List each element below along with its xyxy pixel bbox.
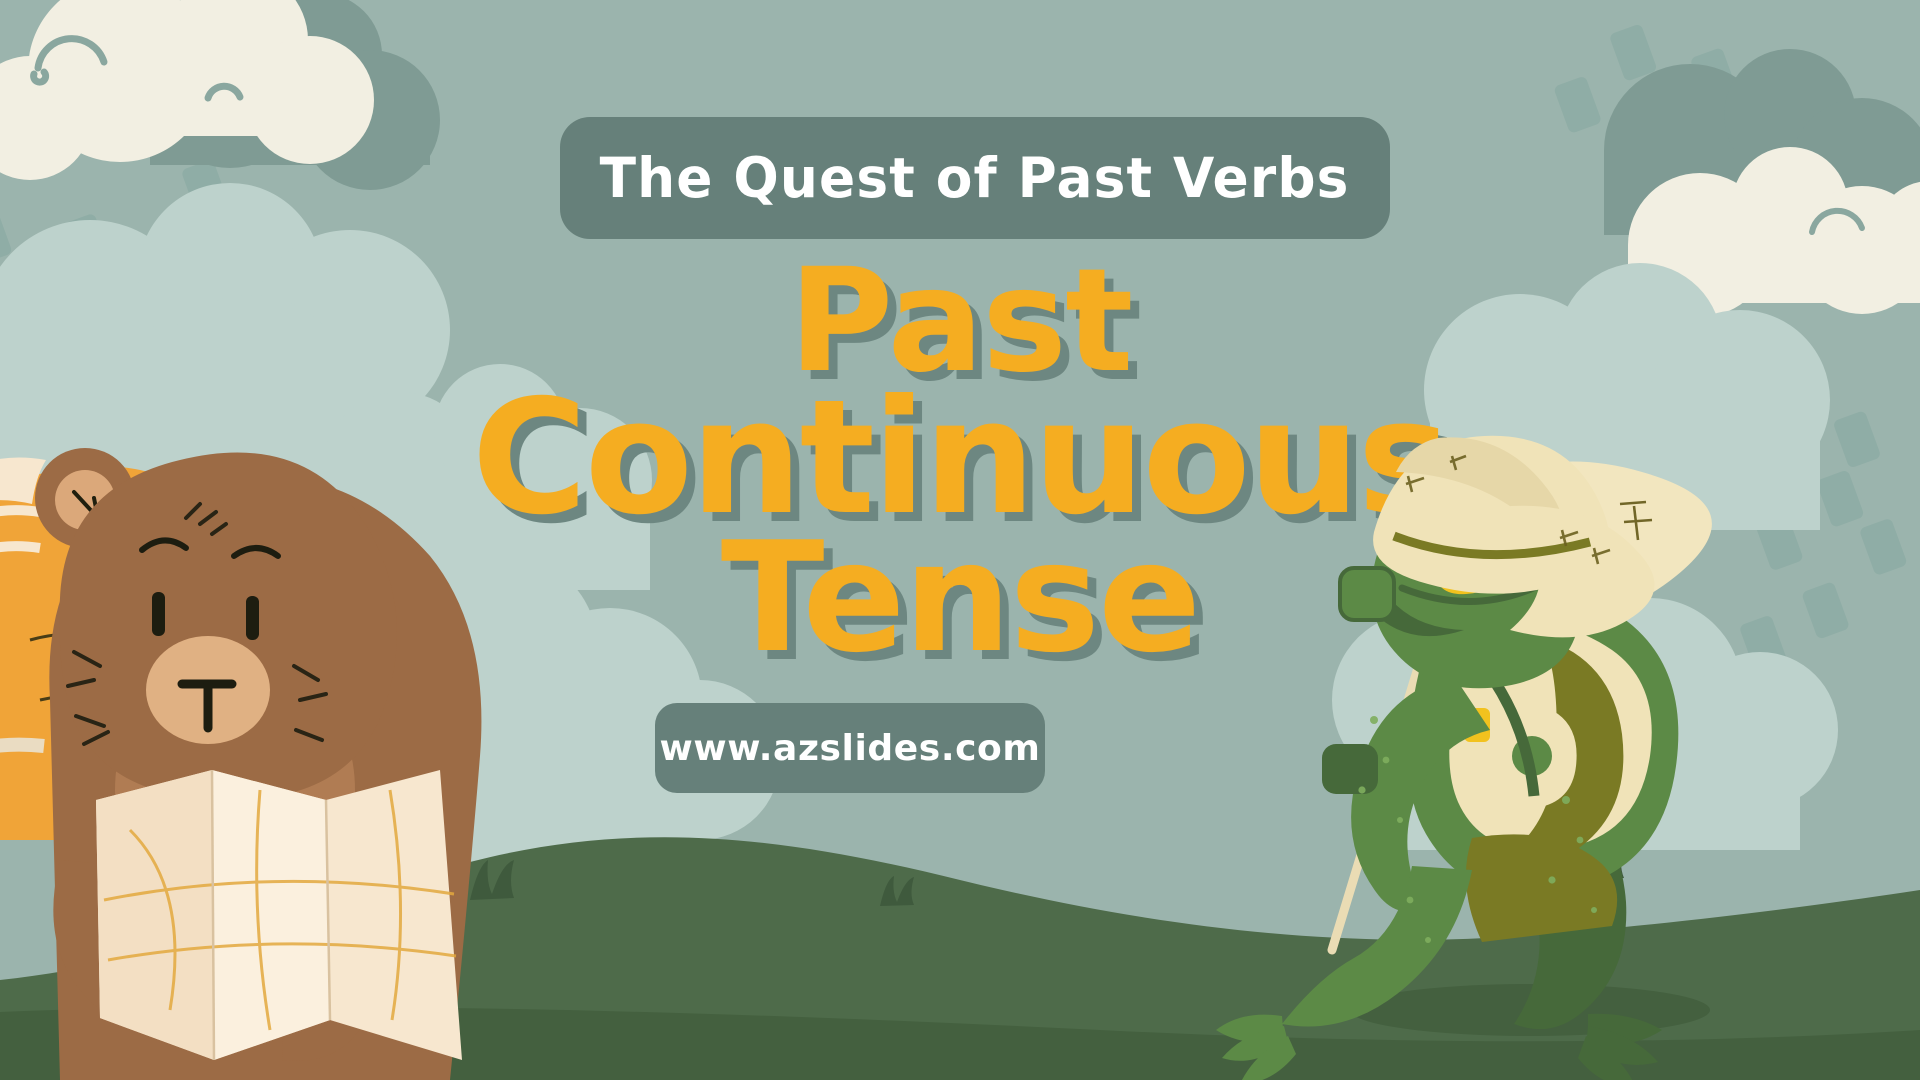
slide-canvas: The Quest of Past Verbs Past Continuous … [0, 0, 1920, 1080]
paper-map [0, 0, 1920, 1080]
